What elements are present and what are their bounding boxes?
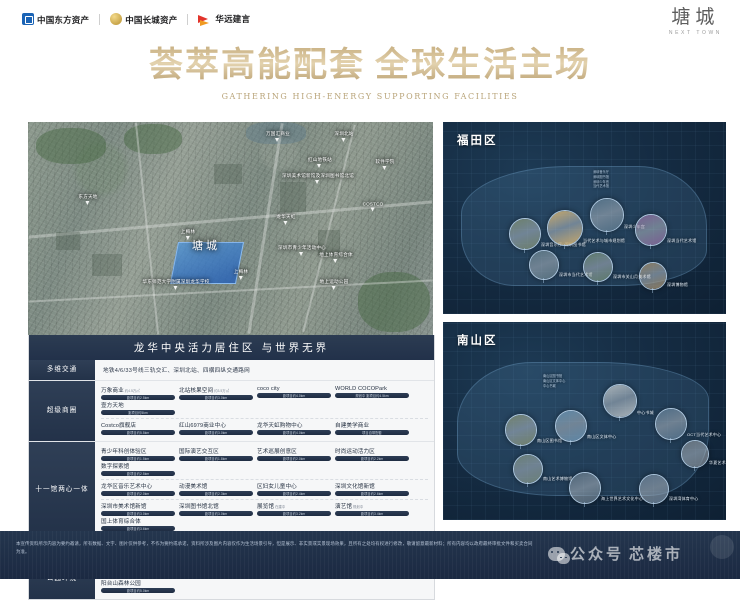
aerial-poi-label: 深圳美术馆新馆及深圳图书馆北馆 (282, 173, 354, 179)
table-row: 超级商圈万象商业 约4.5万㎡距项目约2.5km北站核果空间 约3.5万㎡距项目… (29, 380, 434, 441)
page-title-part1: 荟萃高能配套 (149, 45, 365, 85)
map-poi-leader-line (597, 280, 598, 285)
map-note-text: 南山区图书馆 南山区文体中心 中心书城 (543, 374, 565, 388)
facility-chip-distance: 距项目约2.5km (101, 395, 175, 400)
facility-chip-name: 演艺馆 规划中 (335, 502, 409, 510)
facility-chip-distance: 距项目约4.0km (257, 430, 331, 435)
facility-chip: 动漫美术馆距项目约2.3km (179, 482, 253, 496)
watermark: 公众号 芯楼市 (548, 543, 683, 564)
map-poi-leader-line (652, 288, 653, 293)
partner-logo-3: 华远建言 (198, 14, 250, 25)
brand-logo: 塘城 NEXT TOWN (669, 8, 722, 36)
facility-chip-name: 时尚运动活力区 (335, 447, 409, 455)
map-poi-bubble[interactable] (547, 210, 583, 246)
disclaimer-text: 本宣传资料所示内容为要约邀请，所有数据、文字、图片仅供参考，不作为要约或承诺，资… (16, 540, 536, 556)
map-poi-thumbnail (584, 253, 612, 281)
page-title-part2: 全球生活主场 (375, 45, 591, 85)
facility-chip-name: 深圳图书馆北馆 (179, 502, 253, 510)
facility-chip-meta: 在建中 (274, 505, 285, 509)
facility-chip-meta: 约3.5万㎡ (213, 389, 229, 393)
facility-chip-distance: 距项目约2.0km (101, 491, 175, 496)
table-cell-text: 地铁4/6/33号线三轨交汇、深圳北站、四横四纵交通路网 (101, 363, 428, 377)
map-poi-thumbnail (604, 385, 636, 417)
facility-chip-name: 国上体育综合体 (101, 517, 175, 525)
facility-chip-distance: 距项目约2.6km (335, 491, 409, 496)
map-note-text: 深圳音乐厅 深圳图书馆 深圳少年宫 当代艺术馆 (593, 170, 609, 189)
aerial-poi-label: 地上体育综合体 (319, 252, 353, 258)
left-column: 塘城 万国汇商业深圳北站红山地铁站软件学院深圳美术馆新馆及深圳图书馆北馆东方天地… (28, 122, 433, 600)
map-poi-leader-line (619, 416, 620, 421)
facility-chip-name: 展览馆 在建中 (257, 502, 331, 510)
facility-chip-distance: 距项目约4.0km (257, 393, 331, 398)
facility-chip: 数字探索馆距项目约2.5km (101, 462, 175, 476)
facility-chip-distance: 距项目约1.5km (101, 456, 175, 461)
map-poi-thumbnail (548, 211, 582, 245)
footer-bar: 本宣传资料所示内容为要约邀请，所有数据、文字、图片仅供参考，不作为要约或承诺，资… (0, 531, 740, 579)
map-poi-bubble[interactable] (655, 408, 687, 440)
map-poi-leader-line (606, 230, 607, 235)
facility-chip: 龙华天虹购物中心距项目约4.0km (257, 421, 331, 435)
facility-chip: 时尚运动活力区距项目约2.2km (335, 447, 409, 461)
map-poi-thumbnail (636, 215, 666, 245)
aerial-poi-label: 上梅林 (234, 269, 248, 275)
facility-chip-distance: 距项目约2.2km (335, 456, 409, 461)
facility-chip: 深圳市美术馆新馆距项目约3.0km (101, 502, 175, 516)
aerial-green-1 (36, 128, 106, 164)
facility-chip: 北站核果空间 约3.5万㎡距项目约3.0km (179, 386, 253, 400)
facility-chip-meta: 约4.5万㎡ (124, 389, 140, 393)
square-blue-logo-icon (22, 13, 34, 25)
aerial-map-image: 塘城 万国汇商业深圳北站红山地铁站软件学院深圳美术馆新馆及深圳图书馆北馆东方天地… (28, 122, 433, 335)
facility-chip-distance: 距项目约3.2km (257, 511, 331, 516)
facility-chip-name: 区妇女儿童中心 (257, 482, 331, 490)
facility-chip-name: 自建美学商业 (335, 421, 409, 429)
aerial-center-label: 塘城 (192, 237, 220, 253)
facility-chip-distance: 距项目约3.0km (179, 511, 253, 516)
partner-logo-3-label: 华远建言 (215, 15, 250, 24)
partner-logo-1-label: 中国东方资产 (37, 15, 89, 25)
facility-chip: Costco旗舰店距项目约5.5km (101, 421, 175, 435)
facility-chip-name: coco city (257, 386, 331, 392)
facility-chip: 艺术巡展创意区距项目约2.0km (257, 447, 331, 461)
logo-divider-2 (187, 14, 188, 25)
facility-chip-distance: 距项目约5.0km (101, 588, 175, 593)
table-row-content: 青少年科创体验区距项目约1.5km国际演艺交互区距项目约1.8km艺术巡展创意区… (95, 442, 434, 537)
aerial-block-2 (92, 254, 122, 276)
map-poi-leader-line (584, 502, 585, 507)
facility-chip: 国上体育综合体距项目约3.6km (101, 517, 175, 531)
map-poi-leader-line (670, 438, 671, 443)
facility-chip: 红山6979商业中心距项目约3.0km (179, 421, 253, 435)
map-poi-thumbnail (682, 441, 708, 467)
map-poi-bubble[interactable] (583, 252, 613, 282)
facility-chip: 壹方天地距项目约5km (101, 401, 175, 415)
map-poi-leader-line (520, 444, 521, 449)
table-row-label: 多维交通 (29, 360, 95, 380)
page-title: 荟萃高能配套全球生活主场 (0, 46, 740, 85)
facility-chip-distance: 项目自带配套 (335, 430, 409, 435)
aerial-poi-label: 地上运动公园 (320, 279, 349, 285)
map-poi-label: 当代艺术与城市规划馆 (583, 238, 625, 244)
map-poi-thumbnail (556, 411, 586, 441)
table-cell-line: 万象商业 约4.5万㎡距项目约2.5km北站核果空间 约3.5万㎡距项目约3.0… (101, 384, 428, 418)
footer-corner-badge (710, 535, 734, 559)
logo-divider-1 (99, 14, 100, 25)
partner-logo-bar: 中国东方资产 中国长城资产 华远建言 (22, 10, 250, 28)
map-poi-bubble[interactable] (639, 474, 669, 504)
facility-chip-distance: 距项目约5.5km (101, 430, 175, 435)
map-poi-thumbnail (510, 219, 540, 249)
facility-chip-name: 北站核果空间 约3.5万㎡ (179, 386, 253, 394)
facility-chip-distance: 距项目约3.0km (179, 395, 253, 400)
page-title-block: 荟萃高能配套全球生活主场 GATHERING HIGH-ENERGY SUPPO… (0, 46, 740, 101)
facility-chip: 国际演艺交互区距项目约1.8km (179, 447, 253, 461)
facility-chip-name: 龙华天虹购物中心 (257, 421, 331, 429)
aerial-poi-label: 软件学院 (375, 159, 394, 165)
watermark-name: 芯楼市 (629, 543, 683, 564)
watermark-label: 公众号 (570, 543, 624, 564)
map-poi-thumbnail (514, 455, 542, 483)
aerial-poi-label: COSTCO (363, 202, 384, 207)
facility-chip-name: 艺术巡展创意区 (257, 447, 331, 455)
facility-chip: 龙华区音乐艺术中心距项目约2.0km (101, 482, 175, 496)
facility-chip-name: 深圳文化馆新馆 (335, 482, 409, 490)
facility-chip-distance: 距项目约2.4km (257, 491, 331, 496)
map-poi-bubble[interactable] (590, 198, 624, 232)
partner-logo-2: 中国长城资产 (110, 10, 177, 28)
table-cell-line: 龙华区音乐艺术中心距项目约2.0km动漫美术馆距项目约2.3km区妇女儿童中心距… (101, 479, 428, 499)
table-row-content: 地铁4/6/33号线三轨交汇、深圳北站、四横四纵交通路网 (95, 360, 434, 380)
facility-chip: WORLD COCOPark规划中 距项目约4.5km (335, 386, 409, 398)
facility-chip-name: 动漫美术馆 (179, 482, 253, 490)
facility-chip-name: 龙华区音乐艺术中心 (101, 482, 175, 490)
table-row-content: 万象商业 约4.5万㎡距项目约2.5km北站核果空间 约3.5万㎡距项目约3.0… (95, 381, 434, 441)
map-poi-leader-line (543, 278, 544, 283)
facility-chip: 阳台山森林公园距项目约5.0km (101, 579, 175, 593)
table-cell-line: Costco旗舰店距项目约5.5km红山6979商业中心距项目约3.0km龙华天… (101, 418, 428, 438)
facility-chip-distance: 距项目约2.3km (179, 491, 253, 496)
facility-chip: 深圳文化馆新馆距项目约2.6km (335, 482, 409, 496)
table-cell-line: 深圳市美术馆新馆距项目约3.0km深圳图书馆北馆距项目约3.0km展览馆 在建中… (101, 499, 428, 534)
facility-chip-distance: 距项目约3.4km (335, 511, 409, 516)
map-poi-thumbnail (640, 475, 668, 503)
map-poi-label: 深圳博物馆 (667, 282, 688, 288)
facility-chip-distance: 距项目约5km (101, 410, 175, 415)
facility-chip-name: 万象商业 约4.5万㎡ (101, 386, 175, 394)
map-poi-bubble[interactable] (603, 384, 637, 418)
map-poi-thumbnail (506, 415, 536, 445)
facility-chip-name: Costco旗舰店 (101, 421, 175, 429)
partner-logo-2-label: 中国长城资产 (125, 15, 177, 25)
map-poi-label: 海上世界艺术文化中心 (601, 496, 643, 502)
poster-page: 中国东方资产 中国长城资产 华远建言 塘城 NEXT TOWN 荟萃高能配套全球… (0, 0, 740, 579)
map-poi-bubble[interactable] (569, 472, 601, 504)
map-panel-futian[interactable]: 福田区 深圳音乐厅 深圳图书馆 深圳少年宫 当代艺术馆深圳音乐厅· 深圳图书馆当… (443, 122, 726, 314)
map-poi-label: 中心书城 (637, 410, 654, 416)
aerial-poi-label: 东方天地 (78, 194, 97, 200)
map-poi-bubble[interactable] (509, 218, 541, 250)
facility-chip-distance: 距项目约2.0km (257, 456, 331, 461)
page-subtitle: GATHERING HIGH-ENERGY SUPPORTING FACILIT… (0, 92, 740, 101)
map-poi-thumbnail (656, 409, 686, 439)
map-poi-label: 南山艺术博物馆 (543, 476, 572, 482)
aerial-block-1 (56, 232, 80, 250)
map-poi-leader-line (524, 248, 525, 253)
map-poi-bubble[interactable] (635, 214, 667, 246)
aerial-poi-label: 上梅林 (181, 229, 195, 235)
map-poi-label: 华夏艺术中心 (709, 460, 726, 466)
brand-name-en: NEXT TOWN (669, 30, 722, 36)
facility-table-title: 龙华中央活力居住区 与世界无界 (29, 335, 434, 360)
facility-chip: 区妇女儿童中心距项目约2.4km (257, 482, 331, 496)
map-poi-thumbnail (640, 263, 666, 289)
map-poi-bubble[interactable] (555, 410, 587, 442)
facility-chip-name: 红山6979商业中心 (179, 421, 253, 429)
aerial-poi-label: 龙华天虹 (276, 214, 295, 220)
arrow-red-logo-icon (198, 14, 212, 25)
aerial-poi-label: 华东师范大学附属深圳龙华学校 (142, 279, 209, 285)
facility-chip-distance: 距项目约3.0km (101, 511, 175, 516)
map-poi-leader-line (650, 244, 651, 249)
map-poi-leader-line (653, 502, 654, 507)
facility-chip-distance: 距项目约2.5km (101, 471, 175, 476)
circle-gold-logo-icon (110, 13, 122, 25)
facility-chip-meta: 规划中 (352, 505, 363, 509)
map-poi-bubble[interactable] (639, 262, 667, 290)
map-poi-label: 深圳湾体育中心 (669, 496, 698, 502)
brand-name-cn: 塘城 (669, 8, 722, 28)
facility-chip: 自建美学商业项目自带配套 (335, 421, 409, 435)
facility-chip-name: 深圳市美术馆新馆 (101, 502, 175, 510)
facility-chip-name: 青少年科创体验区 (101, 447, 175, 455)
table-row: 多维交通地铁4/6/33号线三轨交汇、深圳北站、四横四纵交通路网 (29, 360, 434, 380)
map-poi-thumbnail (591, 199, 623, 231)
facility-chip: 深圳图书馆北馆距项目约3.0km (179, 502, 253, 516)
wechat-icon (548, 547, 565, 561)
facility-chip-name: 国际演艺交互区 (179, 447, 253, 455)
facility-chip: 展览馆 在建中距项目约3.2km (257, 502, 331, 516)
table-row: 十一馆两心一体青少年科创体验区距项目约1.5km国际演艺交互区距项目约1.8km… (29, 441, 434, 537)
map-poi-leader-line (564, 244, 565, 249)
map-poi-bubble[interactable] (529, 250, 559, 280)
map-panel-nanshan[interactable]: 南山区 南山区图书馆 南山区文体中心 中心书城南山区图书馆南山区文体中心中心书城… (443, 322, 726, 520)
map-poi-thumbnail (570, 473, 600, 503)
map-poi-leader-line (570, 440, 571, 445)
map-poi-label: 南山区文体中心 (587, 434, 616, 440)
map-poi-label: 深圳当代艺术馆 (667, 238, 696, 244)
map-poi-label: OCT当代艺术中心 (687, 432, 721, 438)
partner-logo-1: 中国东方资产 (22, 10, 89, 28)
map-poi-bubble[interactable] (513, 454, 543, 484)
facility-chip-name: 壹方天地 (101, 401, 175, 409)
aerial-block-5 (214, 164, 242, 184)
map-futian-title: 福田区 (457, 132, 498, 148)
facility-chip-name: 数字探索馆 (101, 462, 175, 470)
aerial-poi-label: 深圳市青少年活动中心 (278, 245, 326, 251)
facility-chip: coco city距项目约4.0km (257, 386, 331, 398)
table-row-label: 超级商圈 (29, 381, 95, 441)
map-poi-bubble[interactable] (681, 440, 709, 468)
map-poi-thumbnail (530, 251, 558, 279)
aerial-green-2 (124, 124, 182, 154)
facility-chip-distance: 规划中 距项目约4.5km (335, 393, 409, 398)
map-poi-bubble[interactable] (505, 414, 537, 446)
map-poi-leader-line (527, 482, 528, 487)
facility-chip: 演艺馆 规划中距项目约3.4km (335, 502, 409, 516)
facility-chip-name: 阳台山森林公园 (101, 579, 175, 587)
facility-chip-distance: 距项目约1.8km (179, 456, 253, 461)
facility-chip-name: WORLD COCOPark (335, 386, 409, 392)
facility-chip: 青少年科创体验区距项目约1.5km (101, 447, 175, 461)
facility-chip-distance: 距项目约3.0km (179, 430, 253, 435)
table-cell-line: 青少年科创体验区距项目约1.5km国际演艺交互区距项目约1.8km艺术巡展创意区… (101, 445, 428, 479)
aerial-block-3 (280, 182, 306, 212)
map-poi-leader-line (694, 466, 695, 471)
map-nanshan-title: 南山区 (457, 332, 498, 348)
aerial-poi-label: 深圳北站 (334, 131, 353, 137)
facility-chip: 万象商业 约4.5万㎡距项目约2.5km (101, 386, 175, 400)
aerial-poi-label: 万国汇商业 (266, 131, 290, 137)
aerial-poi-label: 红山地铁站 (308, 157, 332, 163)
table-row-label: 十一馆两心一体 (29, 442, 95, 537)
